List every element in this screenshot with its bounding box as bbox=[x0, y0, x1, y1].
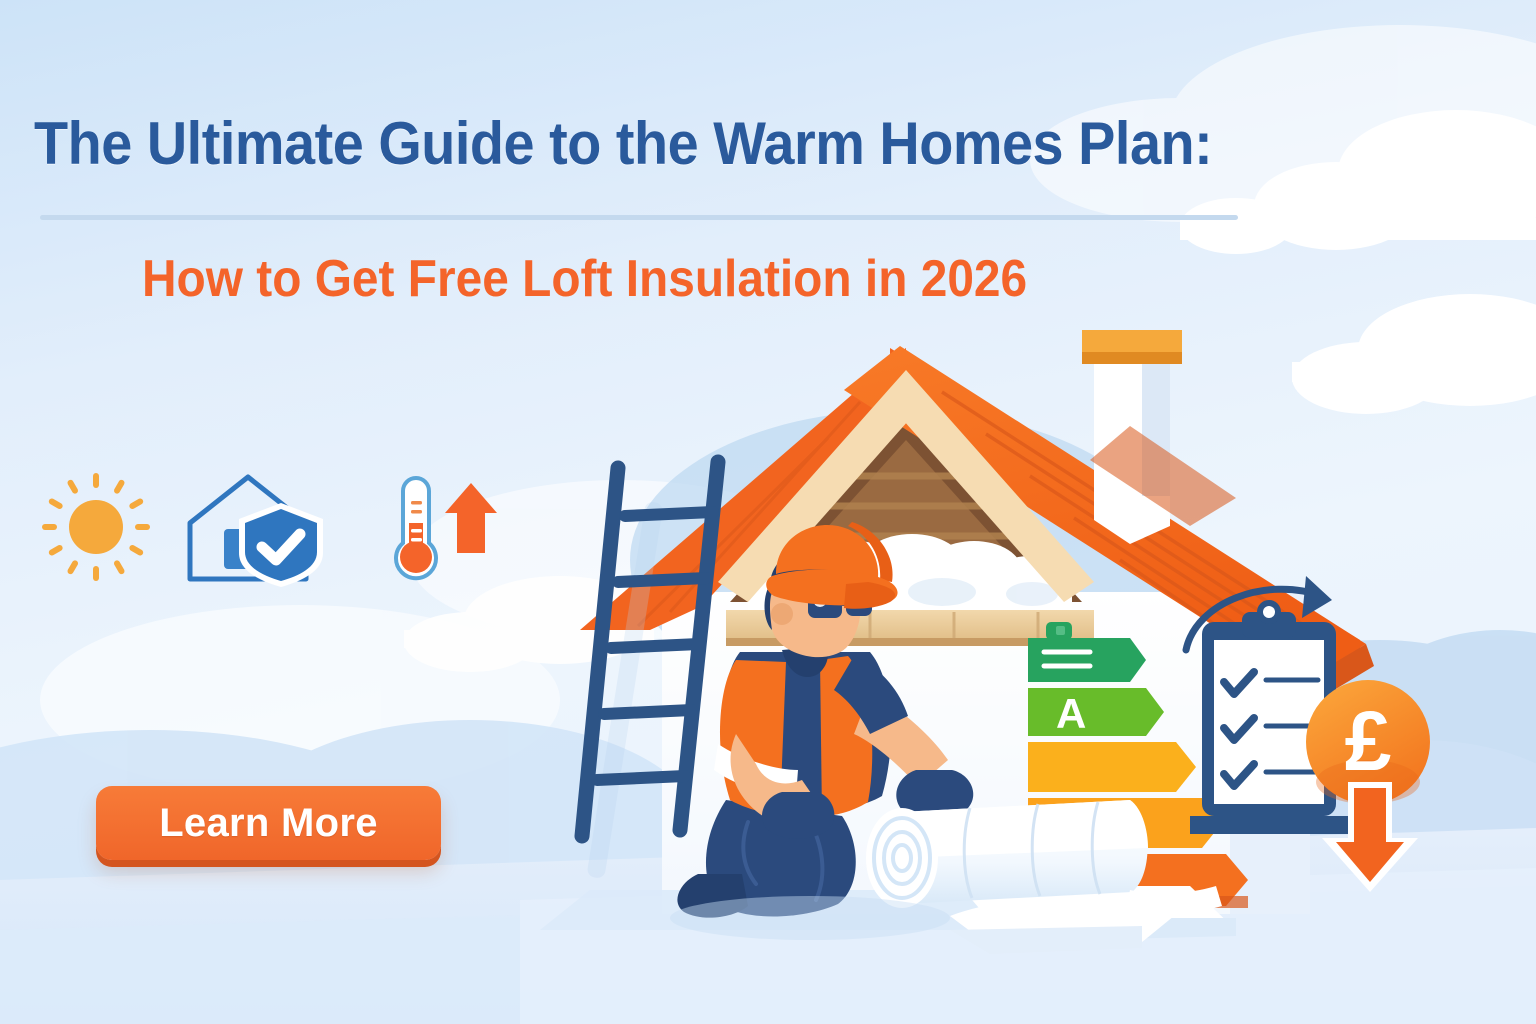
glove-left bbox=[762, 792, 834, 839]
learn-more-button[interactable]: Learn More bbox=[96, 786, 441, 860]
thermometer-tick bbox=[411, 501, 422, 505]
energy-grade-a: A bbox=[1056, 690, 1086, 737]
page-title: The Ultimate Guide to the Warm Homes Pla… bbox=[34, 112, 1178, 175]
page-subtitle: How to Get Free Loft Insulation in 2026 bbox=[142, 252, 1027, 307]
banner-canvas: The Ultimate Guide to the Warm Homes Pla… bbox=[0, 0, 1536, 1024]
sun-disc bbox=[69, 500, 123, 554]
title-block: The Ultimate Guide to the Warm Homes Pla… bbox=[34, 112, 1264, 175]
pound-symbol: £ bbox=[1345, 694, 1392, 788]
chimney bbox=[1082, 330, 1236, 544]
sun-icon bbox=[42, 473, 150, 581]
thermometer-tick bbox=[411, 538, 422, 542]
thermometer-bulb bbox=[400, 541, 432, 573]
loft-insulation-illustration: A bbox=[430, 330, 1536, 1024]
title-divider bbox=[40, 215, 1238, 220]
thermometer-tick bbox=[411, 510, 422, 514]
home-shield-icon bbox=[180, 467, 340, 587]
thermometer-tick bbox=[411, 529, 422, 533]
